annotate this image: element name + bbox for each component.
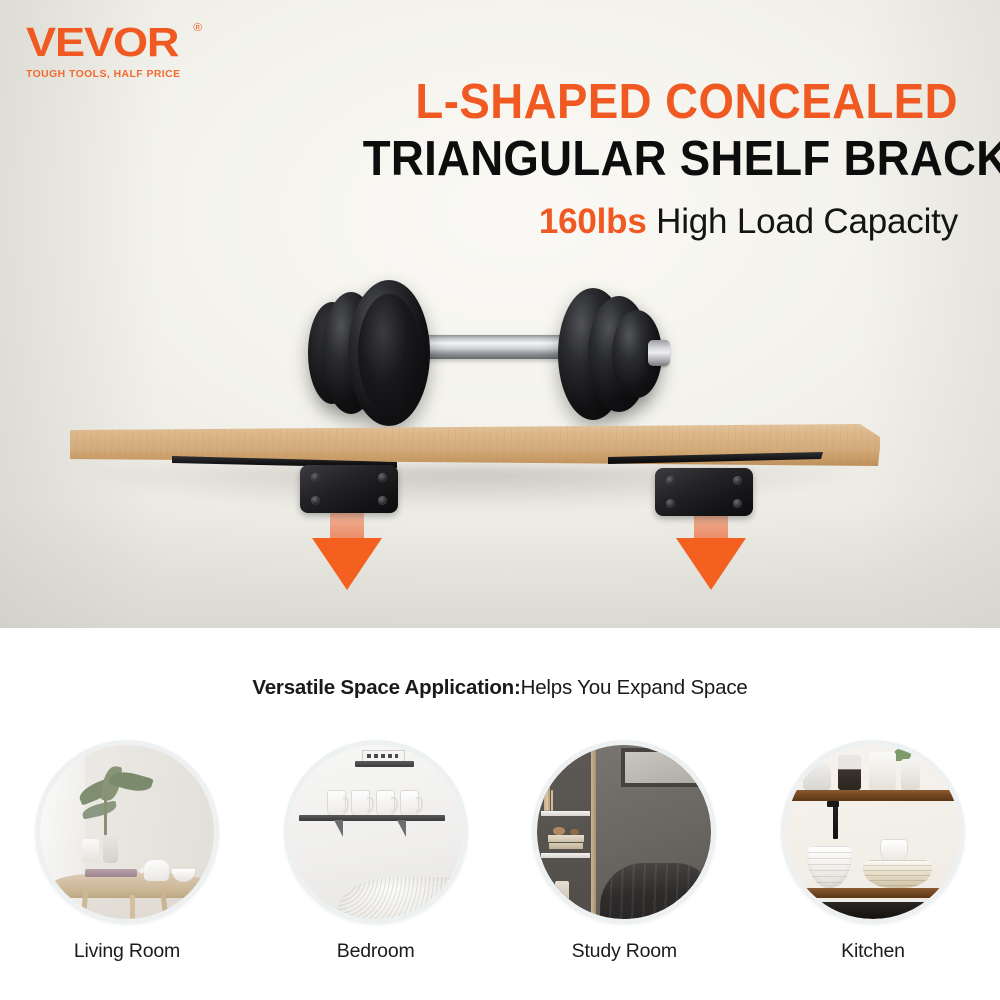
jar-icon (803, 762, 831, 790)
upper-wood-shelf (786, 790, 960, 800)
mug-icon (376, 790, 395, 816)
scene-label-living-room: Living Room (32, 940, 222, 963)
shelf-bracket-icon (833, 801, 838, 839)
screw-icon (311, 496, 320, 505)
bowl-stack-lines (807, 846, 852, 888)
capacity-value: 160lbs (539, 202, 647, 241)
plate-stack-lines (863, 860, 933, 888)
kitchen-photo (781, 740, 965, 924)
bracket-wall-plate-right (655, 468, 753, 516)
framed-picture-icon (621, 748, 701, 786)
knit-blanket (337, 877, 462, 919)
hero-banner: VEVOR ® TOUGH TOOLS, HALF PRICE L-SHAPED… (0, 0, 1000, 628)
office-chair-icon (600, 863, 711, 919)
jar-icon (901, 759, 920, 790)
scene-item-living-room: Living Room (32, 740, 222, 963)
plate-stack-icon (863, 860, 933, 888)
bookcase-shelf (541, 811, 590, 816)
shelf-bracket-icon (334, 820, 343, 837)
application-title-regular: Helps You Expand Space (521, 676, 748, 699)
book-icon (548, 787, 550, 811)
scene-list: Living Room (0, 740, 1000, 963)
bookcase-divider (591, 745, 596, 919)
shelf-bracket-icon (397, 820, 406, 837)
screw-icon (666, 476, 675, 485)
screw-icon (733, 476, 742, 485)
book-icon (85, 869, 137, 878)
application-title-bold: Versatile Space Application: (252, 676, 520, 699)
scene-label-bedroom: Bedroom (281, 940, 471, 963)
headline-line-1: L-SHAPED CONCEALED (363, 78, 958, 127)
screw-icon (378, 473, 387, 482)
lower-wood-shelf (786, 888, 960, 898)
dumbbell-end-cap (648, 340, 670, 366)
book-icon (551, 790, 553, 811)
screw-icon (378, 496, 387, 505)
screw-icon (666, 499, 675, 508)
application-section: Versatile Space Application:Helps You Ex… (0, 628, 1000, 1000)
wall-frame-text (367, 754, 398, 758)
table-leg (130, 895, 135, 919)
application-title: Versatile Space Application:Helps You Ex… (0, 676, 1000, 700)
scene-item-study-room: Study Room (529, 740, 719, 963)
mug-icon (351, 790, 370, 816)
dumbbell-plate-left-front (348, 280, 430, 426)
bracket-wall-plate-left (300, 465, 398, 513)
mug-icon (327, 790, 346, 816)
brand-name-text: VEVOR (26, 19, 178, 65)
book-stack-icon (548, 835, 585, 842)
hero-headline-block: L-SHAPED CONCEALED TRIANGULAR SHELF BRAC… (318, 78, 958, 242)
arrow-head-right (676, 538, 746, 590)
registered-mark: ® (193, 23, 201, 34)
jar-icon (869, 752, 895, 790)
scene-item-kitchen: Kitchen (778, 740, 968, 963)
arrow-head-left (312, 538, 382, 590)
scene-label-kitchen: Kitchen (778, 940, 968, 963)
bowl-stack-icon (807, 846, 852, 888)
living-room-photo (35, 740, 219, 924)
jar-icon (838, 755, 861, 790)
dumbbell-icon (300, 278, 700, 428)
scene-label-study-room: Study Room (529, 940, 719, 963)
lower-shelf (299, 815, 445, 821)
teapot-icon (144, 860, 168, 881)
headline-line-2: TRIANGULAR SHELF BRACKET (363, 135, 958, 184)
brand-logo: VEVOR ® TOUGH TOOLS, HALF PRICE (26, 22, 226, 80)
upper-shelf (355, 761, 414, 767)
bedroom-photo (284, 740, 468, 924)
vase-icon (82, 839, 99, 863)
scene-item-bedroom: Bedroom (281, 740, 471, 963)
capacity-line: 160lbs High Load Capacity (318, 202, 958, 242)
screw-icon (733, 499, 742, 508)
brand-name: VEVOR ® (26, 22, 178, 63)
kitchen-counter-shadow (786, 902, 960, 919)
book-row (537, 773, 594, 811)
book-stack-icon (549, 843, 582, 849)
mug-icon (400, 790, 419, 816)
dumbbell-plate-left-inner (358, 294, 420, 412)
study-room-photo (532, 740, 716, 924)
bookcase-shelf (541, 853, 590, 858)
cup-icon (880, 839, 908, 862)
plant-pot-icon (103, 835, 119, 863)
brand-tagline: TOUGH TOOLS, HALF PRICE (26, 69, 230, 80)
jar-icon (555, 881, 569, 905)
chair-ribs (600, 863, 711, 919)
capacity-text: High Load Capacity (647, 202, 958, 241)
screw-icon (311, 473, 320, 482)
blanket-texture (337, 877, 462, 919)
